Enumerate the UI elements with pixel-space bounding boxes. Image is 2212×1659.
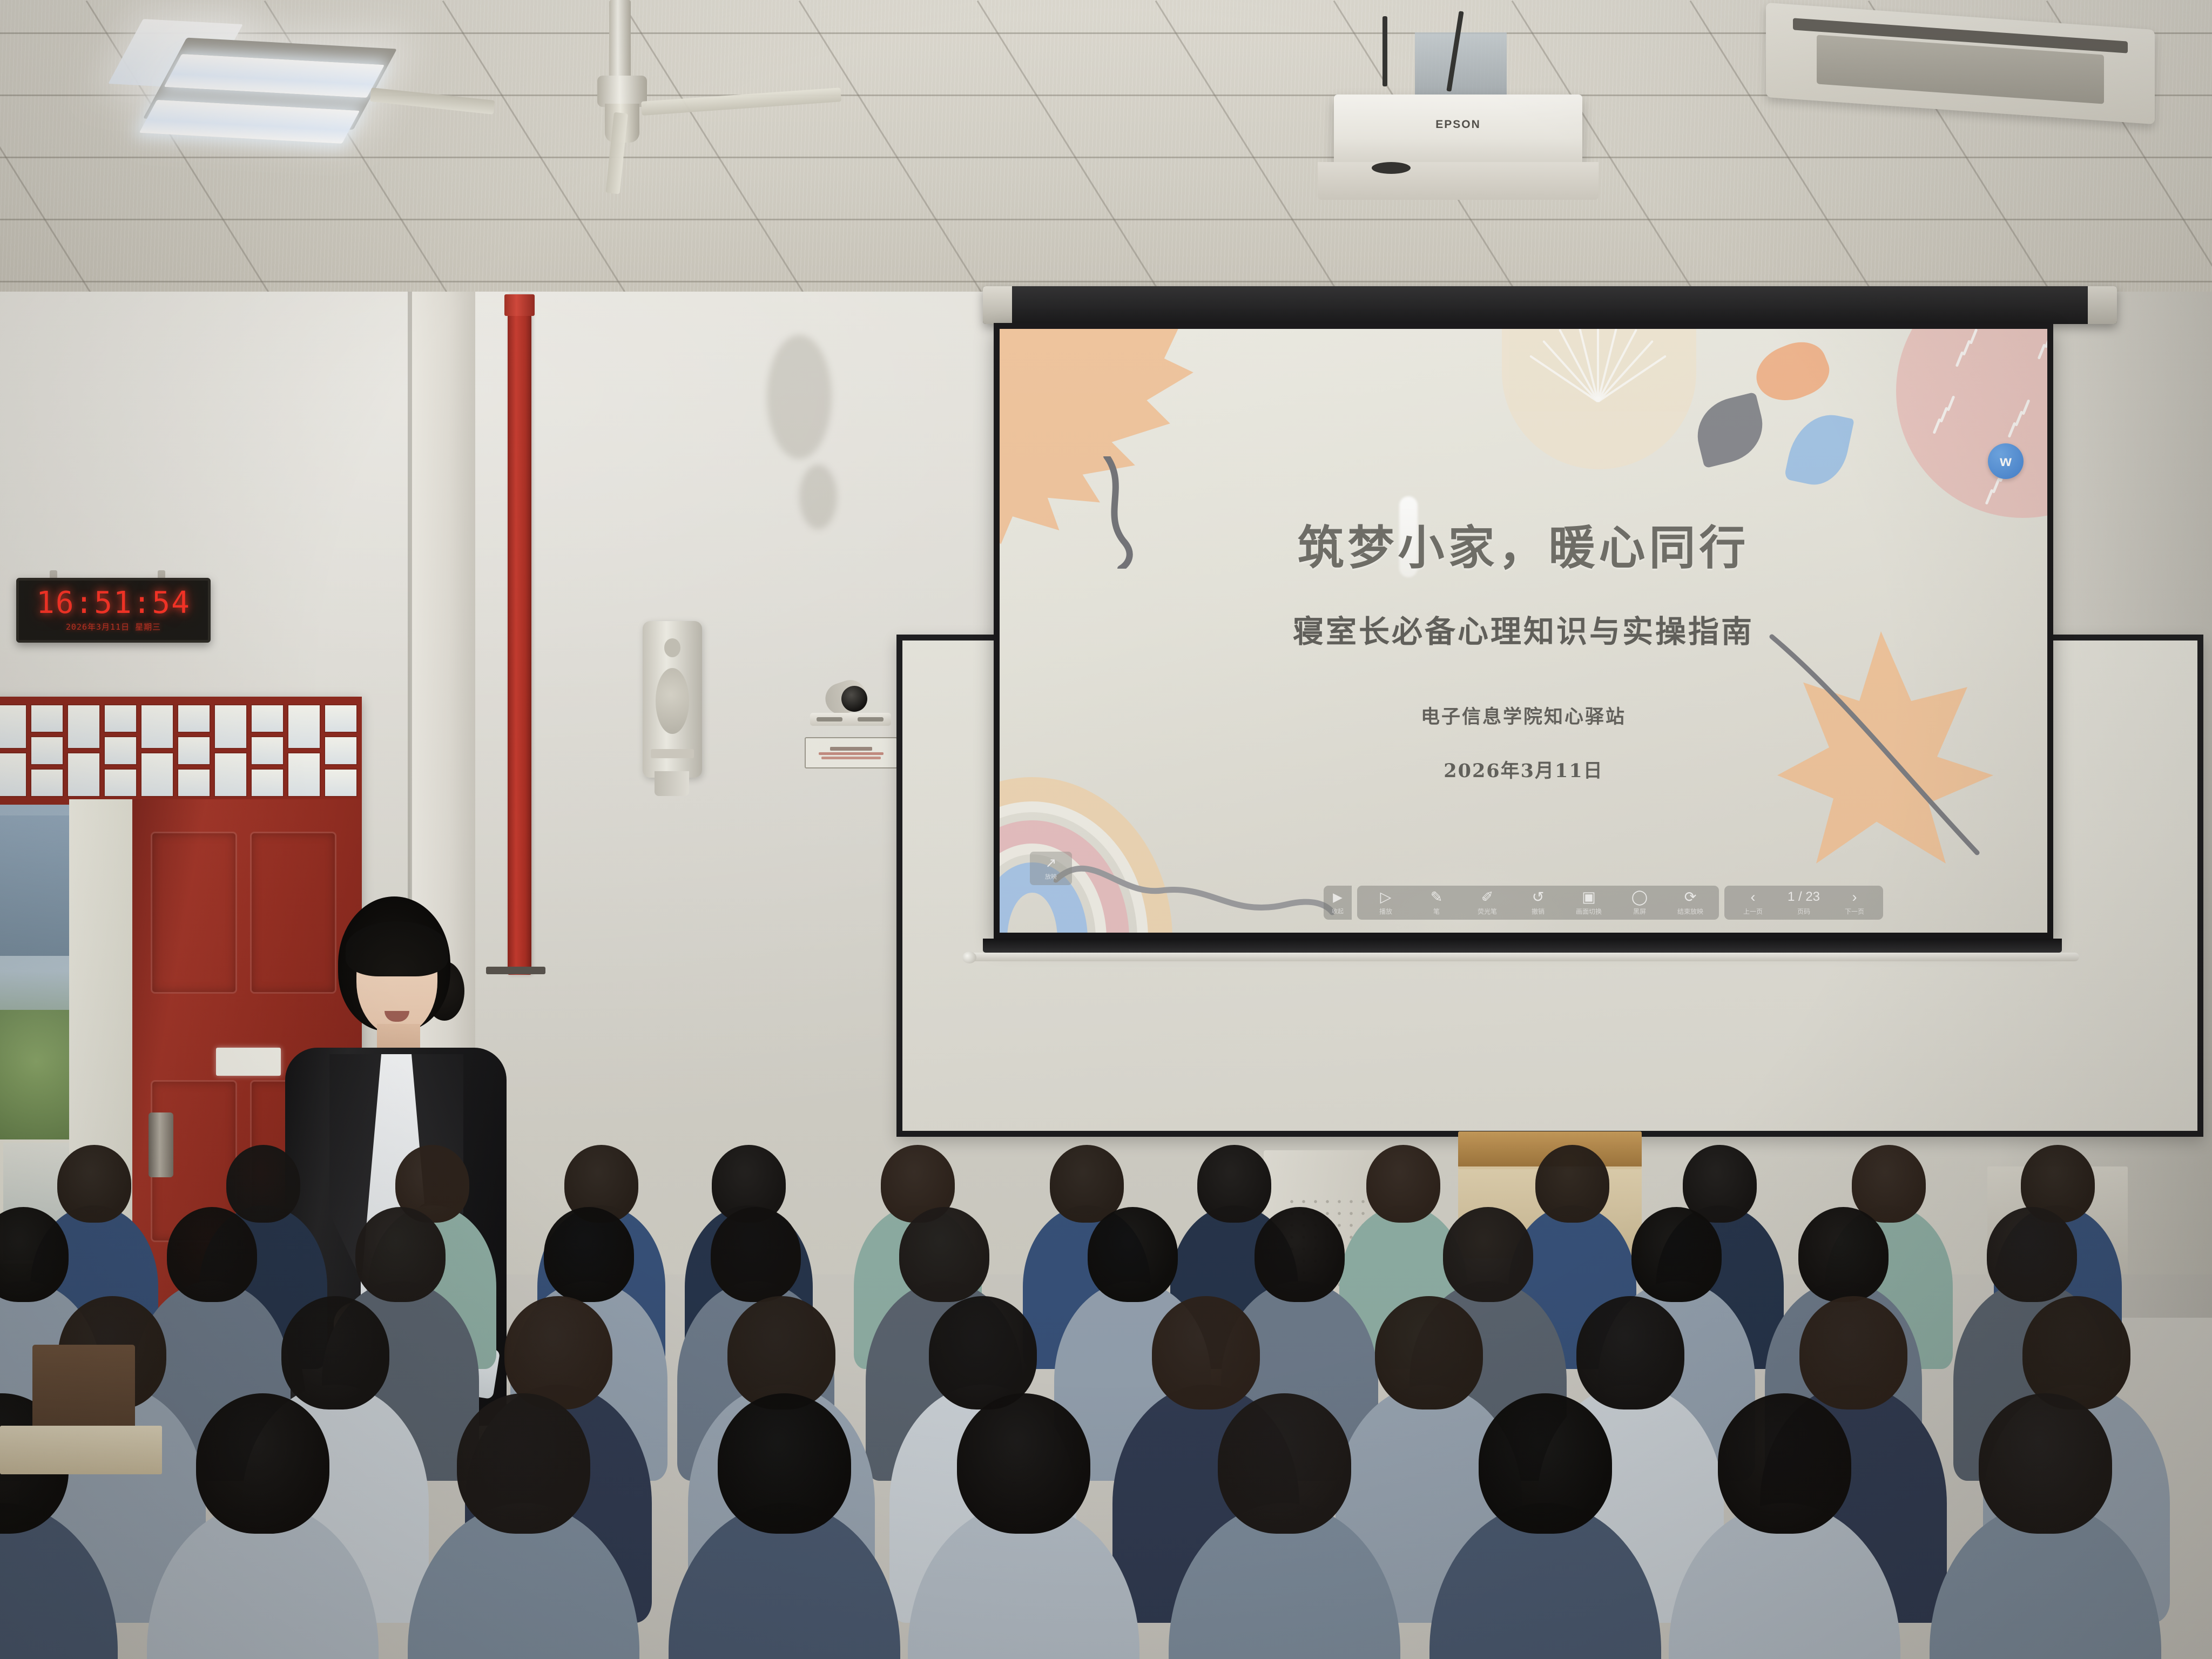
prev-slide-button[interactable]: ‹ 上一页 <box>1728 890 1778 916</box>
transom-pane <box>177 768 211 797</box>
slide-title: 筑梦小家，暖心同行 <box>1000 510 2047 577</box>
transom-cell <box>140 704 174 797</box>
transom-pane <box>140 704 174 749</box>
audience-member-head <box>57 1145 131 1223</box>
wall-mounted-speaker <box>643 621 702 778</box>
label-line <box>830 747 872 751</box>
audience-member-head <box>727 1296 835 1410</box>
transom-pane <box>30 704 64 733</box>
toolbar-nav-group[interactable]: ‹ 上一页 1 / 23 页码 › 下一页 <box>1724 886 1883 920</box>
audience-seating-area: NIKE <box>0 1091 2212 1659</box>
ceiling-tile-line <box>0 281 2212 282</box>
screen-housing-cap <box>983 286 1012 324</box>
toolbar-button-icon: ▷ <box>1380 890 1392 905</box>
transom-pane <box>30 736 64 765</box>
wall-stain <box>767 335 832 459</box>
screen-pull-knob[interactable] <box>962 952 976 963</box>
transom-pane <box>287 752 321 797</box>
decor-swirl-bottom <box>1054 853 1334 928</box>
screen-rail <box>967 953 2079 961</box>
projection-screen-housing <box>983 286 2117 324</box>
decor-fan-cream <box>1502 329 1696 469</box>
toolbar-button-label: 笔 <box>1433 907 1440 916</box>
decor-circle-pink-hatched <box>1896 329 2047 518</box>
chevron-left-icon: ‹ <box>1751 890 1756 905</box>
slide-subtitle: 寝室长必备心理知识与实操指南 <box>1000 607 2047 651</box>
audience-member-head <box>1050 1145 1124 1223</box>
transom-pane <box>104 768 137 797</box>
classroom-photo-scene: EPSON 16:51:54 2026年3月11日 星期三 <box>0 0 2212 1659</box>
audience-member-head <box>957 1393 1090 1534</box>
transom-pane <box>324 704 358 733</box>
ceiling-tile-line <box>0 157 2212 158</box>
decor-hatch-mark <box>2022 399 2031 415</box>
digital-wall-clock: 16:51:54 2026年3月11日 星期三 <box>16 578 211 643</box>
audience-member-head <box>1718 1393 1851 1534</box>
toolbar-button-0[interactable]: ▷播放 <box>1360 890 1411 916</box>
audience-member-head <box>1535 1145 1609 1223</box>
transom-pane <box>104 736 137 765</box>
audience-member-head <box>718 1393 851 1534</box>
projector-lens <box>1372 162 1411 174</box>
audience-member-head <box>1366 1145 1440 1223</box>
toolbar-collapse-button[interactable]: ▶ 收起 <box>1324 886 1352 920</box>
audience-member-head <box>1987 1207 2077 1302</box>
audience-member-head <box>196 1393 329 1534</box>
transom-pane <box>214 704 247 749</box>
page-indicator-value: 1 / 23 <box>1771 889 1836 905</box>
wall-mounted-camera <box>810 682 891 730</box>
next-slide-label: 下一页 <box>1845 907 1864 916</box>
decor-petal-orange <box>1748 333 1836 410</box>
transom-cell <box>30 704 64 797</box>
transom-pane <box>177 736 211 765</box>
decor-hatch-mark <box>1970 329 1978 345</box>
audience-member-head <box>1799 1296 1907 1410</box>
audience-member-head <box>1479 1393 1612 1534</box>
audience-member-head <box>504 1296 612 1410</box>
wps-badge-icon[interactable]: w <box>1988 443 2024 479</box>
next-slide-button[interactable]: › 下一页 <box>1829 890 1880 916</box>
epson-projector: EPSON <box>1334 95 1582 167</box>
toolbar-button-6[interactable]: ⟳结束放映 <box>1665 890 1716 916</box>
decor-petal-gray <box>1690 392 1770 469</box>
label-line <box>819 752 884 755</box>
page-indicator-label: 页码 <box>1797 907 1810 916</box>
transom-pane <box>251 768 284 797</box>
red-fire-sprinkler-pipe <box>508 294 531 975</box>
audience-member-head <box>1218 1393 1351 1534</box>
transom-cell <box>251 704 284 797</box>
pipe-collar <box>504 294 535 316</box>
toolbar-button-icon: ✐ <box>1481 890 1494 905</box>
audience-member-head <box>1576 1296 1684 1410</box>
toolbar-button-icon: ⟳ <box>1684 890 1697 905</box>
audience-member-head <box>167 1207 257 1302</box>
transom-cell <box>0 704 27 797</box>
transom-pane <box>67 704 100 749</box>
toolbar-button-label: 播放 <box>1379 907 1392 916</box>
transom-pane <box>324 736 358 765</box>
audience-member-head <box>899 1207 989 1302</box>
toolbar-button-icon: ↺ <box>1532 890 1545 905</box>
transom-pane <box>251 704 284 733</box>
audience-member-head <box>1852 1145 1926 1223</box>
audience-member-head <box>1798 1207 1889 1302</box>
ceiling-tile-line <box>0 219 2212 220</box>
toolbar-button-label: 画面切换 <box>1576 907 1602 916</box>
slide-organization: 电子信息学院知心驿站 <box>1000 702 2047 729</box>
audience-member-head <box>355 1207 446 1302</box>
audience-member-head <box>1979 1393 2112 1534</box>
audience-member-head <box>1631 1207 1722 1302</box>
transom-pane <box>251 736 284 765</box>
toolbar-button-3[interactable]: ↺撤销 <box>1513 890 1563 916</box>
transom-pane <box>30 768 64 797</box>
speaker-tweeter <box>664 638 681 657</box>
fluorescent-panel-light <box>143 38 397 130</box>
projector-mount-bracket <box>1415 32 1507 97</box>
transom-cell <box>324 704 358 797</box>
clock-date-display: 2026年3月11日 星期三 <box>66 621 161 632</box>
door-transom-window <box>0 697 362 805</box>
toolbar-button-label: 黑屏 <box>1633 907 1646 916</box>
toolbar-button-1[interactable]: ✎笔 <box>1411 890 1462 916</box>
audience-member-head <box>1152 1296 1260 1410</box>
transom-pane <box>0 752 27 797</box>
collapse-label: 收起 <box>1332 907 1344 915</box>
toolbar-button-2[interactable]: ✐荧光笔 <box>1462 890 1513 916</box>
transom-cell <box>104 704 137 797</box>
projection-screen: 筑梦小家，暖心同行 寝室长必备心理知识与实操指南 电子信息学院知心驿站 2026… <box>1000 329 2047 933</box>
transom-pane <box>214 752 247 797</box>
fan-rod <box>609 0 631 81</box>
transom-pane <box>140 752 174 797</box>
audience-member-head <box>1375 1296 1483 1410</box>
decor-hatch-mark <box>1947 395 1955 412</box>
speaker-mount-bracket <box>655 771 689 796</box>
corner-button-label: 放映 <box>1045 872 1057 881</box>
equipment-label-plate <box>805 737 898 768</box>
slide-corner-button[interactable]: ↗ 放映 <box>1030 852 1072 885</box>
toolbar-tools-group[interactable]: ▷播放✎笔✐荧光笔↺撤销▣画面切换◯黑屏⟳结束放映 <box>1357 886 1719 920</box>
transom-cell <box>214 704 247 797</box>
audience-member-head <box>281 1296 389 1410</box>
transom-pane <box>104 704 137 733</box>
chevron-right-icon: › <box>1852 890 1857 905</box>
projector-base <box>1318 162 1599 200</box>
classroom-desk <box>0 1426 162 1474</box>
transom-pane <box>287 704 321 749</box>
decor-curve-bottomright <box>1761 631 1993 864</box>
projector-brand-label: EPSON <box>1334 118 1582 131</box>
speaker-base-detail <box>651 749 693 758</box>
slide-date: 2026年3月11日 <box>1000 756 2047 783</box>
page-indicator: 1 / 23 页码 <box>1778 889 1829 916</box>
decor-hatch-mark <box>1917 474 1926 490</box>
audience-member-head <box>226 1145 300 1223</box>
clock-time-display: 16:51:54 <box>36 588 191 618</box>
transom-pane <box>324 768 358 797</box>
decor-petal-blue <box>1784 408 1854 491</box>
ceiling-fan <box>518 0 821 162</box>
screen-housing-cap <box>2088 286 2117 324</box>
transom-pane <box>177 704 211 733</box>
ppt-presenter-toolbar[interactable]: ▶ 收起 ▷播放✎笔✐荧光笔↺撤销▣画面切换◯黑屏⟳结束放映 ‹ 上一页 1 /… <box>1324 886 1883 920</box>
toolbar-button-icon: ✎ <box>1431 890 1443 905</box>
toolbar-button-icon: ◯ <box>1631 890 1648 905</box>
audience-member-head <box>544 1207 634 1302</box>
label-line <box>821 757 881 759</box>
audience-member-head <box>1197 1145 1271 1223</box>
fan-motor <box>597 76 647 107</box>
corner-button-icon: ↗ <box>1046 857 1057 870</box>
projection-screen-frame: 筑梦小家，暖心同行 寝室长必备心理知识与实操指南 电子信息学院知心驿站 2026… <box>994 323 2053 939</box>
transom-cell <box>177 704 211 797</box>
toolbar-button-5[interactable]: ◯黑屏 <box>1614 890 1665 916</box>
audience-member-head <box>1443 1207 1533 1302</box>
audience-member-head <box>457 1393 590 1534</box>
wall-stain <box>799 464 837 529</box>
screen-bottom-weight-bar <box>983 939 2062 953</box>
audience-member-head <box>2022 1296 2130 1410</box>
collapse-icon: ▶ <box>1333 890 1343 905</box>
transom-cell <box>287 704 321 797</box>
fan-blade <box>641 87 841 116</box>
transom-cell <box>67 704 100 797</box>
toolbar-button-label: 结束放映 <box>1677 907 1703 916</box>
toolbar-button-icon: ▣ <box>1582 890 1596 905</box>
projector-cable <box>1382 16 1387 86</box>
door-panel <box>151 832 237 994</box>
audience-member-head <box>1088 1207 1178 1302</box>
speaker-cone <box>656 668 689 734</box>
prev-slide-label: 上一页 <box>1743 907 1763 916</box>
decor-hatch-mark <box>2045 332 2047 348</box>
presenter-hair-front <box>346 921 448 976</box>
camera-mount-bar <box>810 713 891 726</box>
toolbar-button-label: 荧光笔 <box>1478 907 1497 916</box>
audience-member-head <box>1255 1207 1345 1302</box>
toolbar-button-4[interactable]: ▣画面切换 <box>1563 890 1614 916</box>
transom-pane <box>0 704 27 749</box>
audience-member-head <box>711 1207 801 1302</box>
transom-pane <box>67 752 100 797</box>
audience-member-head <box>929 1296 1037 1410</box>
toolbar-button-label: 撤销 <box>1532 907 1545 916</box>
light-tube <box>164 54 385 98</box>
camera-lens <box>841 686 867 712</box>
